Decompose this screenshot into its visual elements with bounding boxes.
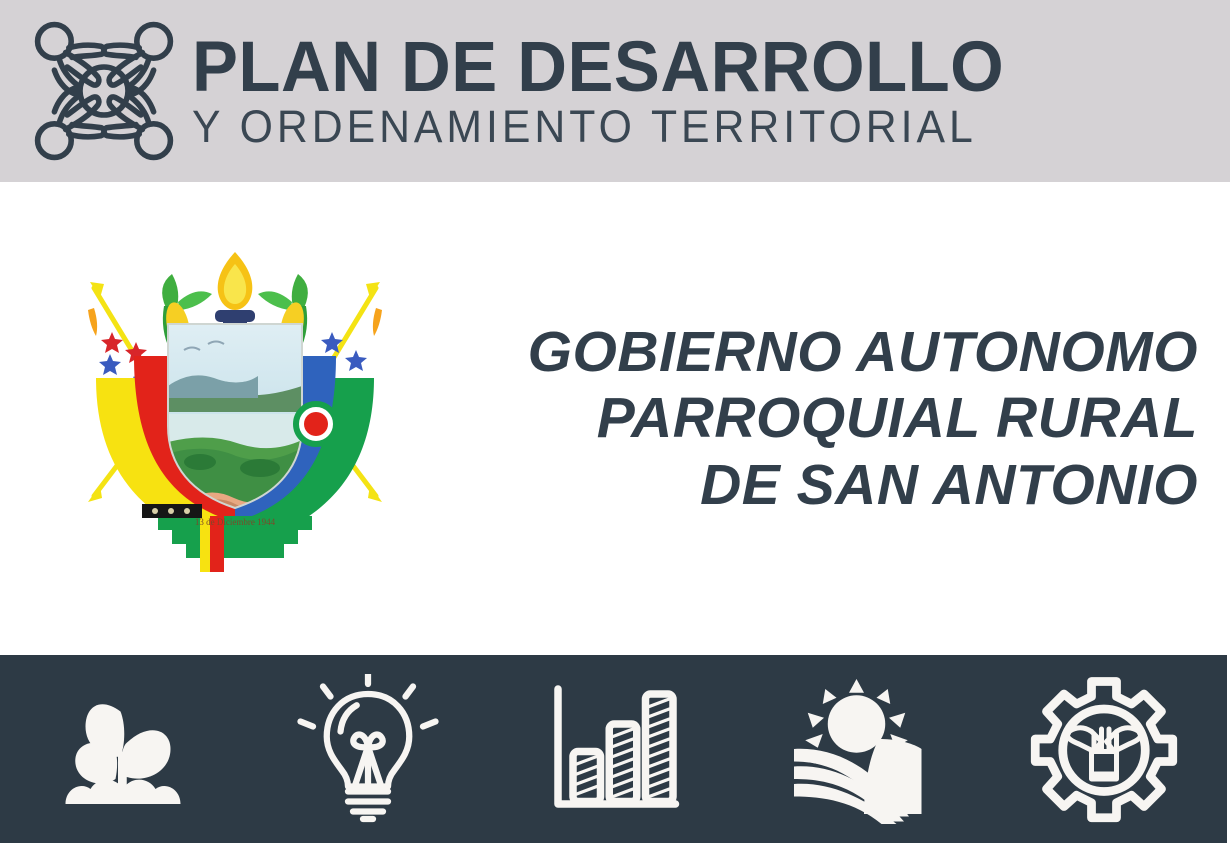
lightbulb-icon [293, 674, 443, 824]
coat-of-arms-san-antonio: 13 de Diciembre 1944 [50, 246, 420, 591]
main-content: 13 de Diciembre 1944 GOBIERNO AUTONOMO [0, 182, 1230, 655]
rosette-icon [294, 402, 338, 446]
left-decoration [142, 504, 202, 518]
org-name-line-3: DE SAN ANTONIO [435, 452, 1198, 518]
sun-over-fields-icon [784, 674, 934, 824]
seedling-plant-icon [48, 674, 198, 824]
header-band: PLAN DE DESARROLLO Y ORDENAMIENTO TERRIT… [0, 0, 1230, 182]
org-name-line-2: PARROQUIAL RURAL [435, 385, 1198, 451]
ribbon-text: 13 de Diciembre 1944 [195, 517, 276, 527]
org-name-line-1: GOBIERNO AUTONOMO [435, 319, 1198, 385]
page-title: PLAN DE DESARROLLO [192, 33, 1179, 103]
bar-chart-icon [538, 674, 688, 824]
gear-with-hands-icon [1029, 674, 1179, 824]
teamwork-circle-icon [24, 11, 184, 171]
header-titles: PLAN DE DESARROLLO Y ORDENAMIENTO TERRIT… [192, 33, 1230, 150]
page-subtitle: Y ORDENAMIENTO TERRITORIAL [192, 104, 1159, 149]
footer-icon-bar [0, 655, 1227, 843]
poster-page: PLAN DE DESARROLLO Y ORDENAMIENTO TERRIT… [0, 0, 1230, 843]
crest-container: 13 de Diciembre 1944 [35, 246, 435, 591]
organization-name: GOBIERNO AUTONOMO PARROQUIAL RURAL DE SA… [435, 319, 1230, 517]
